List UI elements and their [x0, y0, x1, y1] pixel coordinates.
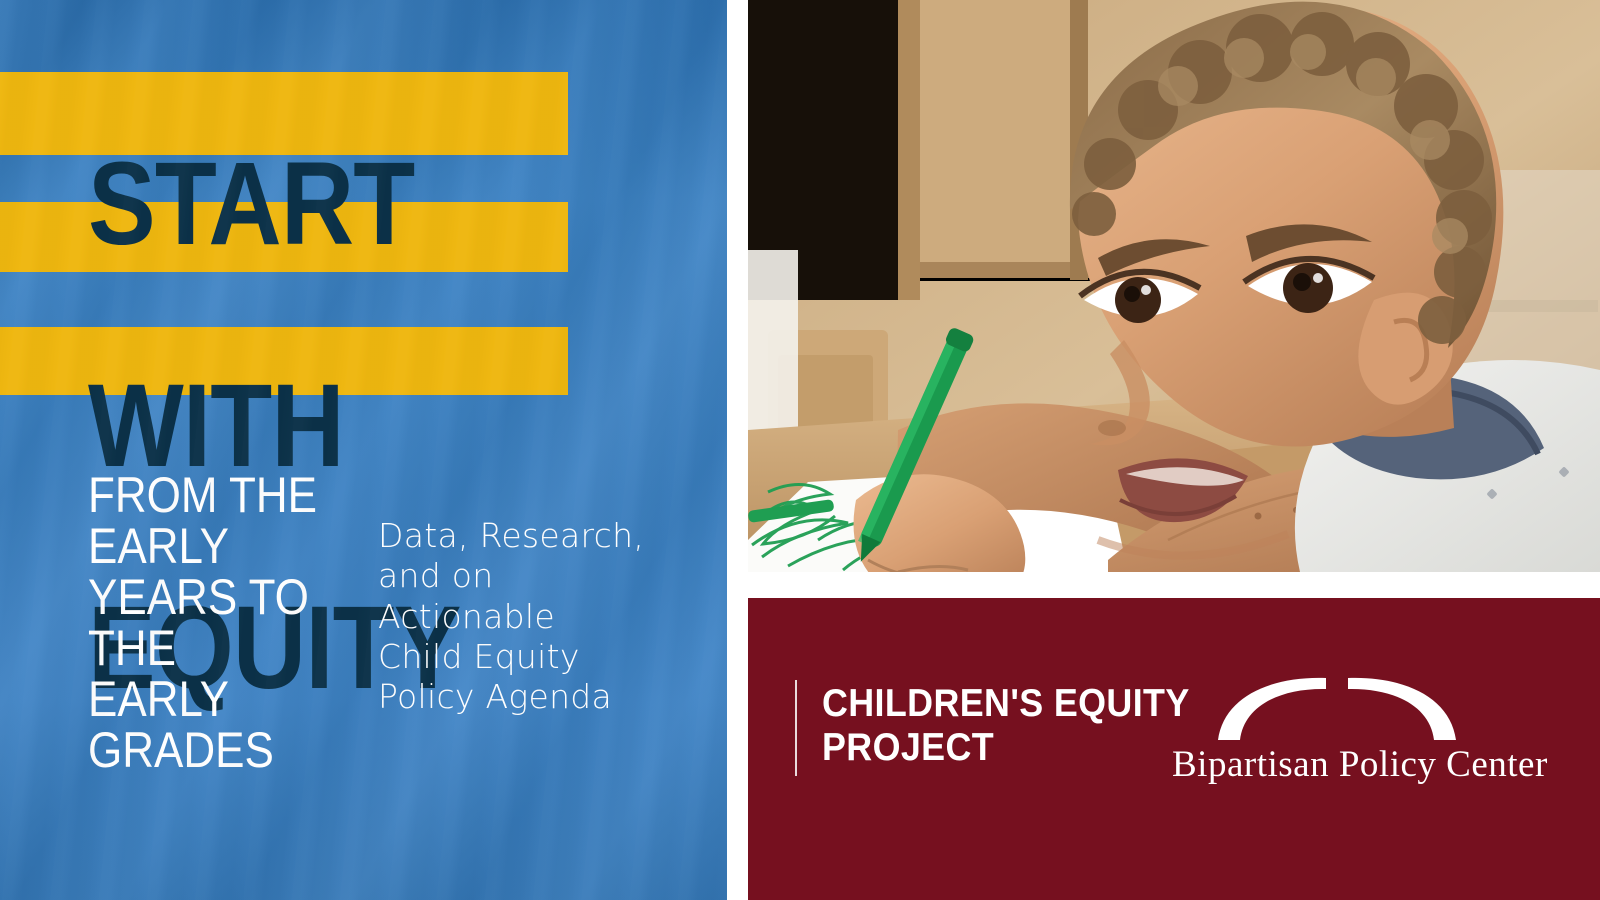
report-cover: START WITH EQUITY FROM THE EARLY YEARS T… — [0, 0, 1600, 900]
bipartisan-policy-center-logo: Bipartisan Policy Center — [1172, 676, 1502, 783]
headline-line-2: WITH — [88, 371, 604, 482]
bpc-wordmark: Bipartisan Policy Center — [1172, 746, 1502, 783]
cover-photo — [748, 0, 1600, 572]
cover-photo-image — [748, 0, 1600, 572]
organization-name: CHILDREN'S EQUITY PROJECT — [822, 680, 1190, 776]
childrens-equity-project-lockup: CHILDREN'S EQUITY PROJECT — [795, 680, 1222, 776]
dome-arch-icon — [1214, 676, 1460, 742]
headline-line-1: START — [88, 149, 604, 260]
subtitle: FROM THE EARLY YEARS TO THE EARLY GRADES — [88, 470, 326, 776]
report-descriptor: Data, Research, and on Actionable Child … — [378, 516, 678, 717]
left-blue-panel: START WITH EQUITY FROM THE EARLY YEARS T… — [0, 0, 727, 900]
vertical-divider — [795, 680, 797, 776]
